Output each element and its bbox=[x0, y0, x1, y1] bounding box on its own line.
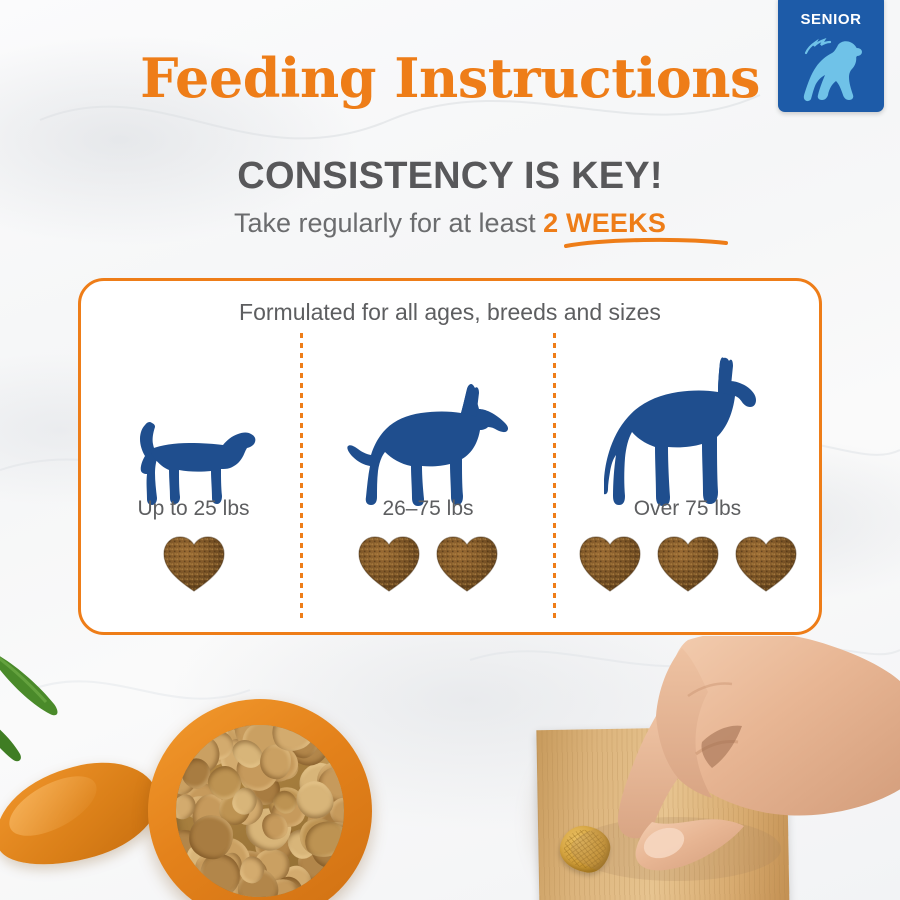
heart-kibble-treat bbox=[356, 533, 422, 595]
tagline-underline-icon bbox=[563, 236, 729, 250]
heart-kibble-treat bbox=[655, 533, 721, 595]
small-dog-silhouette-icon bbox=[131, 411, 257, 507]
heart-kibble-treat bbox=[434, 533, 500, 595]
treat-row-large bbox=[556, 533, 819, 595]
column-label-medium: 26–75 lbs bbox=[303, 497, 553, 521]
treat-row-small bbox=[87, 533, 300, 595]
feeding-chart-card: Formulated for all ages, breeds and size… bbox=[78, 278, 822, 635]
heart-kibble-treat bbox=[161, 533, 227, 595]
dog-icon-area bbox=[556, 355, 819, 507]
bowl-kibble-fill bbox=[176, 725, 344, 897]
treat-row-medium bbox=[303, 533, 553, 595]
page-title: Feeding Instructions bbox=[0, 46, 900, 110]
tagline: Take regularly for at least 2 WEEKS bbox=[0, 208, 900, 239]
tagline-highlight: 2 WEEKS bbox=[543, 208, 666, 238]
orange-measuring-scoop bbox=[0, 747, 169, 882]
tagline-prefix: Take regularly for at least bbox=[234, 208, 543, 238]
heart-kibble-treat bbox=[733, 533, 799, 595]
orange-dog-bowl bbox=[148, 699, 372, 900]
hand-holding-kibble bbox=[556, 636, 900, 900]
feeding-column-small: Up to 25 lbs bbox=[87, 325, 300, 625]
dog-icon-area bbox=[303, 379, 553, 507]
scoop-highlight bbox=[0, 764, 105, 848]
dog-icon-area bbox=[87, 411, 300, 507]
product-photo-area bbox=[0, 636, 900, 900]
card-heading: Formulated for all ages, breeds and size… bbox=[81, 299, 819, 326]
senior-badge-label: SENIOR bbox=[800, 12, 861, 27]
green-plant-leaf bbox=[0, 642, 100, 762]
column-label-large: Over 75 lbs bbox=[556, 497, 819, 521]
medium-dog-silhouette-icon bbox=[343, 379, 513, 507]
feeding-column-large: Over 75 lbs bbox=[556, 325, 819, 625]
feeding-column-medium: 26–75 lbs bbox=[303, 325, 553, 625]
heart-kibble-treat bbox=[577, 533, 643, 595]
subtitle: CONSISTENCY IS KEY! bbox=[0, 155, 900, 198]
infographic-root: SENIOR Feeding Instructions CONSISTENCY … bbox=[0, 0, 900, 900]
column-label-small: Up to 25 lbs bbox=[87, 497, 300, 521]
large-dog-silhouette-icon bbox=[604, 355, 772, 507]
